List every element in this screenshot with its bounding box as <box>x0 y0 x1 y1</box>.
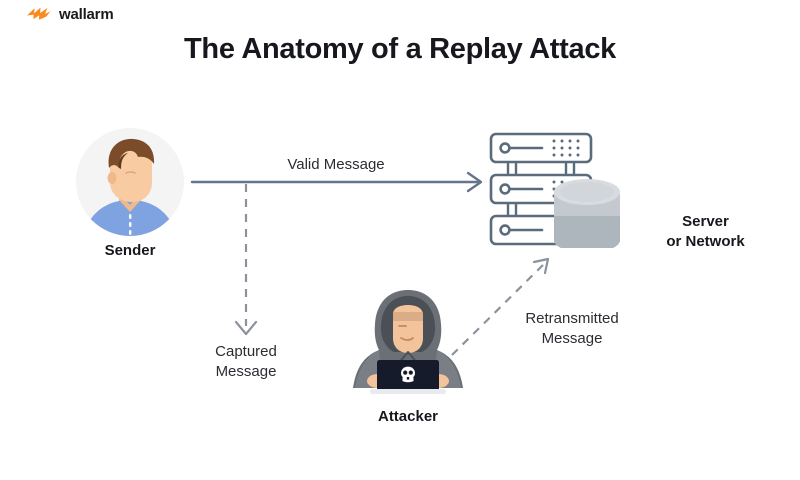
attacker-hacker-icon <box>348 286 468 396</box>
diagram-canvas: wallarm The Anatomy of a Replay Attack <box>0 0 800 480</box>
retransmitted-message-label: Retransmitted Message <box>494 309 650 349</box>
skull-logo-icon <box>401 367 415 383</box>
captured-message-arrow <box>236 184 256 334</box>
server-label: Server or Network <box>618 212 793 252</box>
valid-message-label: Valid Message <box>246 155 426 175</box>
valid-message-arrow <box>192 173 481 191</box>
database-cylinder-icon <box>554 179 620 248</box>
laptop-icon <box>370 360 446 394</box>
page-title: The Anatomy of a Replay Attack <box>0 33 800 66</box>
retransmitted-message-line2: Message <box>542 330 603 347</box>
captured-message-line2: Message <box>216 363 277 380</box>
wallarm-logo-text: wallarm <box>59 7 113 22</box>
wallarm-logo: wallarm <box>26 6 113 22</box>
sender-label: Sender <box>56 242 204 259</box>
retransmitted-message-line1: Retransmitted <box>525 310 618 327</box>
wallarm-bolt-icon <box>26 6 52 22</box>
attacker-label: Attacker <box>338 408 478 425</box>
server-label-line2: or Network <box>666 233 744 250</box>
captured-message-label: Captured Message <box>178 342 314 382</box>
server-network-icon <box>486 130 626 248</box>
sender-avatar <box>76 128 184 236</box>
captured-message-line1: Captured <box>215 343 277 360</box>
server-label-line1: Server <box>682 213 729 230</box>
